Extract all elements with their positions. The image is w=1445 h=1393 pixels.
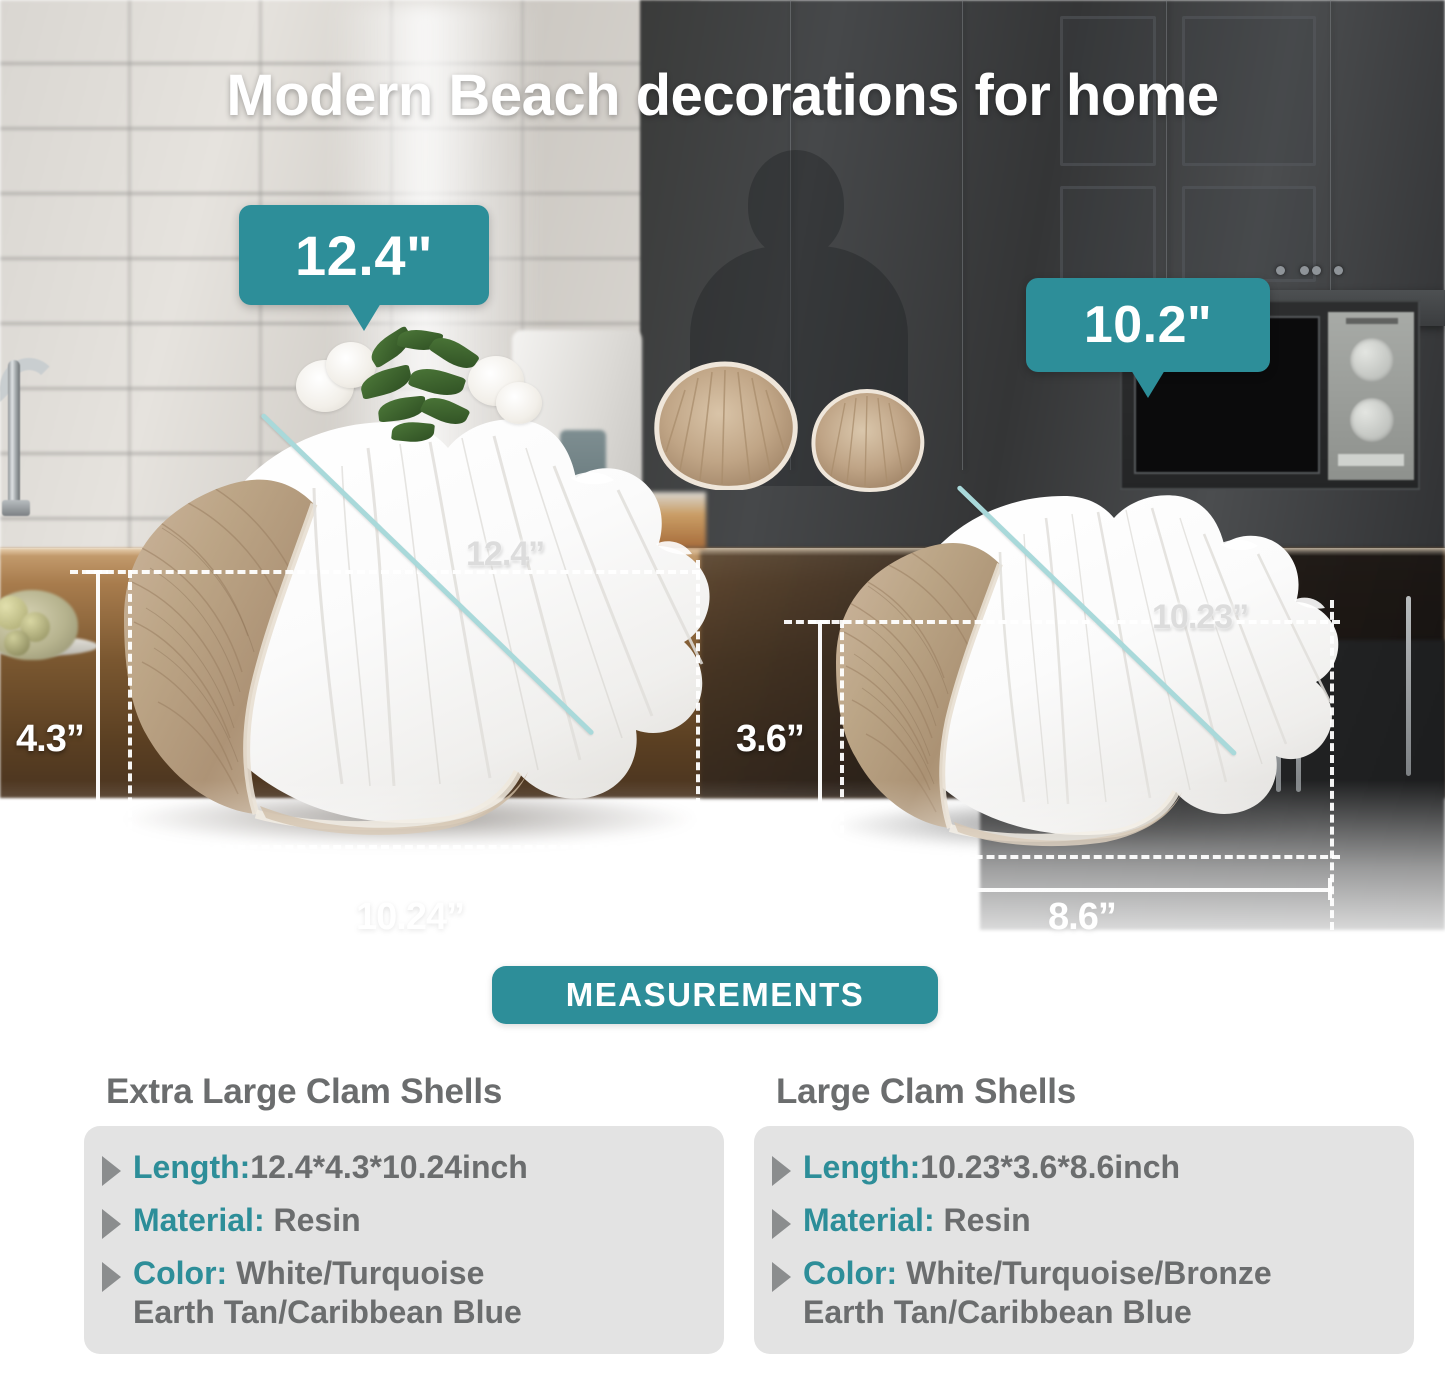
cabinet-knob	[1334, 266, 1343, 275]
white-flower	[496, 382, 542, 424]
faucet-base	[2, 500, 30, 516]
kitchen-photo-scene: 4.3” 10.24” 12.4” 3.6” 8.6” 10.23” 12.4"	[0, 0, 1445, 1010]
spec-row-length: Length:10.23*3.6*8.6inch	[772, 1148, 1398, 1187]
page-title: Modern Beach decorations for home	[0, 62, 1445, 129]
callout-badge-small: 10.2"	[1026, 278, 1270, 372]
guide-line-left-top	[70, 570, 700, 574]
bullet-triangle-icon	[102, 1209, 121, 1239]
microwave-slot	[1338, 454, 1404, 466]
spec-length-key: Length:	[133, 1149, 250, 1185]
measurements-banner-label: MEASUREMENTS	[566, 976, 865, 1014]
spec-row-material: Material: Resin	[102, 1201, 708, 1240]
spec-color-key: Color:	[803, 1255, 897, 1291]
product-infographic: 4.3” 10.24” 12.4” 3.6” 8.6” 10.23” 12.4"	[0, 0, 1445, 1393]
cabinet-knob	[1300, 266, 1309, 275]
diagonal-label-left: 12.4”	[466, 535, 544, 574]
spec-color-value-line2: Earth Tan/Caribbean Blue	[133, 1294, 522, 1330]
height-label-left: 4.3”	[16, 718, 84, 761]
cabinet-knob	[1276, 266, 1285, 275]
spec-color-value: White/Turquoise	[227, 1255, 484, 1291]
spec-material-value: Resin	[265, 1202, 361, 1238]
cabinet-handle	[1406, 596, 1411, 776]
silhouette-head	[748, 150, 844, 258]
spec-length-key: Length:	[803, 1149, 920, 1185]
microwave-dial	[1350, 338, 1394, 382]
guide-line-right-top	[784, 620, 1340, 624]
spec-material-value: Resin	[935, 1202, 1031, 1238]
spec-color-text: Color: White/Turquoise Earth Tan/Caribbe…	[133, 1254, 522, 1332]
spec-length-text: Length:12.4*4.3*10.24inch	[133, 1148, 528, 1187]
spec-material-text: Material: Resin	[803, 1201, 1031, 1240]
cabinet-knob	[1312, 266, 1321, 275]
spec-length-text: Length:10.23*3.6*8.6inch	[803, 1148, 1180, 1187]
spec-color-key: Color:	[133, 1255, 227, 1291]
cabinet-glass-panel	[1060, 186, 1156, 282]
spec-length-value: 12.4*4.3*10.24inch	[250, 1149, 528, 1185]
spec-row-material: Material: Resin	[772, 1201, 1398, 1240]
height-label-right: 3.6”	[736, 718, 804, 761]
spec-material-key: Material:	[803, 1202, 935, 1238]
succulent-plant-arrangement	[290, 330, 550, 460]
callout-badge-large-value: 12.4"	[295, 223, 433, 288]
faucet-neck	[8, 360, 20, 510]
spec-box-extra-large: Length:12.4*4.3*10.24inch Material: Resi…	[84, 1126, 724, 1354]
plant-leaf	[391, 420, 435, 444]
spec-material-text: Material: Resin	[133, 1201, 361, 1240]
measurements-banner: MEASUREMENTS	[492, 966, 938, 1024]
spec-column-large: Large Clam Shells Length:10.23*3.6*8.6in…	[754, 1072, 1414, 1354]
microwave-control-panel	[1328, 312, 1414, 480]
callout-badge-large: 12.4"	[239, 205, 489, 305]
spec-row-color: Color: White/Turquoise Earth Tan/Caribbe…	[102, 1254, 708, 1332]
height-cap-top-right	[808, 620, 830, 624]
bullet-triangle-icon	[102, 1156, 121, 1186]
spec-color-text: Color: White/Turquoise/Bronze Earth Tan/…	[803, 1254, 1272, 1332]
spec-color-value: White/Turquoise/Bronze	[897, 1255, 1272, 1291]
diagonal-label-right: 10.23”	[1152, 598, 1248, 637]
spec-length-value: 10.23*3.6*8.6inch	[920, 1149, 1180, 1185]
bullet-triangle-icon	[102, 1262, 121, 1292]
fruit	[4, 630, 30, 656]
spec-row-color: Color: White/Turquoise/Bronze Earth Tan/…	[772, 1254, 1398, 1332]
bullet-triangle-icon	[772, 1209, 791, 1239]
callout-badge-small-value: 10.2"	[1084, 295, 1212, 355]
spec-title-large: Large Clam Shells	[776, 1072, 1414, 1112]
spec-box-large: Length:10.23*3.6*8.6inch Material: Resin…	[754, 1126, 1414, 1354]
spec-title-extra-large: Extra Large Clam Shells	[106, 1072, 724, 1112]
bullet-triangle-icon	[772, 1262, 791, 1292]
microwave-dial	[1350, 398, 1394, 442]
spec-row-length: Length:12.4*4.3*10.24inch	[102, 1148, 708, 1187]
cabinet-glass-panel	[1182, 186, 1316, 282]
bullet-triangle-icon	[772, 1156, 791, 1186]
microwave-brand-mark	[1346, 318, 1398, 324]
spec-material-key: Material:	[133, 1202, 265, 1238]
height-cap-top-left	[86, 570, 108, 574]
spec-column-extra-large: Extra Large Clam Shells Length:12.4*4.3*…	[84, 1072, 724, 1354]
spec-color-value-line2: Earth Tan/Caribbean Blue	[803, 1294, 1192, 1330]
